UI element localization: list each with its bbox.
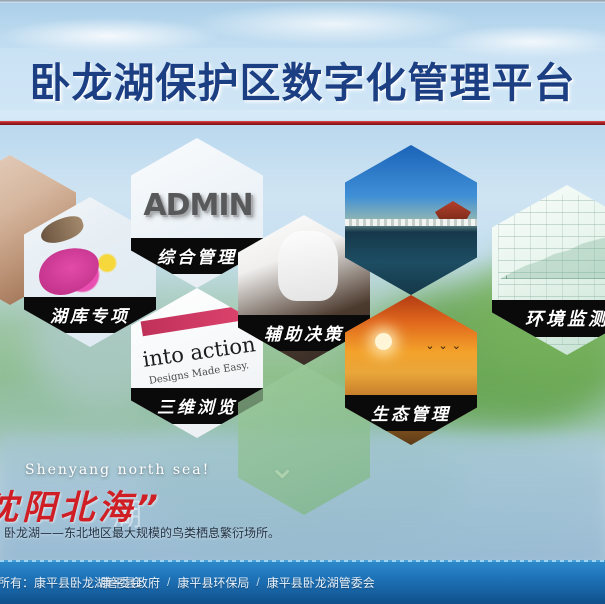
footer-link-government[interactable]: 康平县政府	[100, 574, 160, 591]
bridge-railing	[345, 219, 477, 226]
pavilion-icon	[435, 201, 471, 221]
window-top-edge	[0, 0, 605, 3]
footer-link-wolonghu-committee[interactable]: 康平县卧龙湖管委会	[267, 574, 375, 591]
module-label: 环境监测	[492, 300, 605, 337]
sun-icon	[375, 333, 392, 350]
admin-overlay-text: ADMIN	[139, 188, 257, 223]
page-root: 卧龙湖保护区数字化管理平台 ⌄ ⌄ 湖库专项 ADMIN	[0, 0, 605, 604]
module-environment-monitoring[interactable]: 环境监测	[492, 185, 605, 355]
banner-red-calligraphy: 沈阳北海”	[0, 480, 162, 529]
banner-english-line: Shenyang north sea!	[25, 462, 210, 478]
page-title: 卧龙湖保护区数字化管理平台	[30, 49, 576, 109]
footer-separator: /	[167, 575, 170, 589]
site-header: 卧龙湖保护区数字化管理平台	[0, 48, 605, 110]
footer-links: 康平县政府 / 康平县环保局 / 康平县卧龙湖管委会	[100, 574, 375, 591]
bird-flock-icon: ⌄⌄⌄	[425, 339, 465, 352]
footer-link-epb[interactable]: 康平县环保局	[177, 574, 249, 591]
module-hexagon-grid: 湖库专项 ADMIN 综合管理 into action Designs Made…	[0, 125, 605, 445]
banner-caption-block: Shenyang north sea! 湖 沈阳北海” 卧龙湖——东北地区最大规…	[0, 448, 605, 548]
site-footer: 版权所有：康平县卧龙湖管委会 康平县政府 / 康平县环保局 / 康平县卧龙湖管委…	[0, 560, 605, 604]
banner-caption-text: 卧龙湖——东北地区最大规模的鸟类栖息繁衍场所。	[4, 524, 280, 541]
footer-separator: /	[256, 575, 259, 589]
